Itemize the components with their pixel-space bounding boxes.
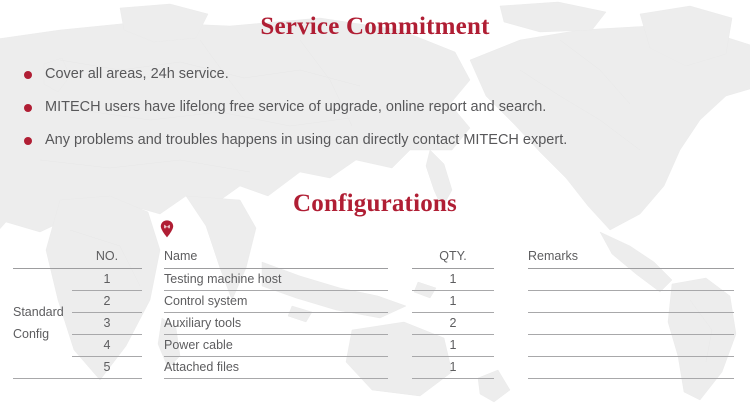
- map-pin-icon: [160, 220, 174, 238]
- table-cell-qty: 1: [412, 359, 494, 375]
- service-commitment-title: Service Commitment: [0, 12, 750, 42]
- table-rule-name: [164, 290, 388, 291]
- table-rule-name: [164, 312, 388, 313]
- table-cell-no: 5: [72, 359, 142, 375]
- table-rule-remarks: [528, 378, 734, 379]
- table-rule-group-bottom: [13, 378, 142, 379]
- table-rule-name: [164, 334, 388, 335]
- table-rule-no: [72, 334, 142, 335]
- table-header-name: Name: [164, 248, 197, 264]
- list-item-label: Any problems and troubles happens in usi…: [45, 130, 567, 150]
- table-cell-qty: 1: [412, 271, 494, 287]
- list-item: Any problems and troubles happens in usi…: [24, 130, 724, 163]
- table-rule-qty: [412, 312, 494, 313]
- table-header-no: NO.: [72, 248, 142, 264]
- configurations-table: NO. Name QTY. Remarks Standard Config 1 …: [0, 244, 750, 394]
- table-cell-name: Attached files: [164, 359, 239, 375]
- bullet-dot-icon: [24, 104, 32, 112]
- table-cell-name: Testing machine host: [164, 271, 281, 287]
- table-rule-qty-top: [412, 268, 494, 269]
- configurations-title: Configurations: [0, 189, 750, 219]
- group-label-line-1: Standard: [13, 304, 64, 320]
- table-cell-no: 4: [72, 337, 142, 353]
- table-rule-remarks-top: [528, 268, 734, 269]
- table-rule-no: [72, 290, 142, 291]
- table-header-qty: QTY.: [412, 248, 494, 264]
- table-cell-qty: 2: [412, 315, 494, 331]
- table-rule-no: [72, 312, 142, 313]
- table-cell-qty: 1: [412, 337, 494, 353]
- table-cell-no: 1: [72, 271, 142, 287]
- table-rule-name: [164, 356, 388, 357]
- bullet-dot-icon: [24, 71, 32, 79]
- service-commitment-list: Cover all areas, 24h service. MITECH use…: [24, 64, 724, 163]
- table-cell-name: Auxiliary tools: [164, 315, 241, 331]
- table-cell-no: 3: [72, 315, 142, 331]
- table-rule-group-top: [13, 268, 142, 269]
- list-item: Cover all areas, 24h service.: [24, 64, 724, 97]
- bullet-dot-icon: [24, 137, 32, 145]
- table-cell-name: Control system: [164, 293, 247, 309]
- table-rule-remarks: [528, 312, 734, 313]
- table-header-remarks: Remarks: [528, 248, 578, 264]
- table-rule-name: [164, 378, 388, 379]
- table-rule-remarks: [528, 334, 734, 335]
- table-rule-name-top: [164, 268, 388, 269]
- list-item-label: Cover all areas, 24h service.: [45, 64, 229, 84]
- table-cell-qty: 1: [412, 293, 494, 309]
- group-label-line-2: Config: [13, 326, 49, 342]
- table-rule-remarks: [528, 356, 734, 357]
- table-rule-qty: [412, 334, 494, 335]
- list-item: MITECH users have lifelong free service …: [24, 97, 724, 130]
- table-rule-no: [72, 356, 142, 357]
- table-rule-qty: [412, 356, 494, 357]
- table-cell-name: Power cable: [164, 337, 233, 353]
- table-rule-remarks: [528, 290, 734, 291]
- table-rule-qty: [412, 290, 494, 291]
- table-rule-qty: [412, 378, 494, 379]
- list-item-label: MITECH users have lifelong free service …: [45, 97, 546, 117]
- table-cell-no: 2: [72, 293, 142, 309]
